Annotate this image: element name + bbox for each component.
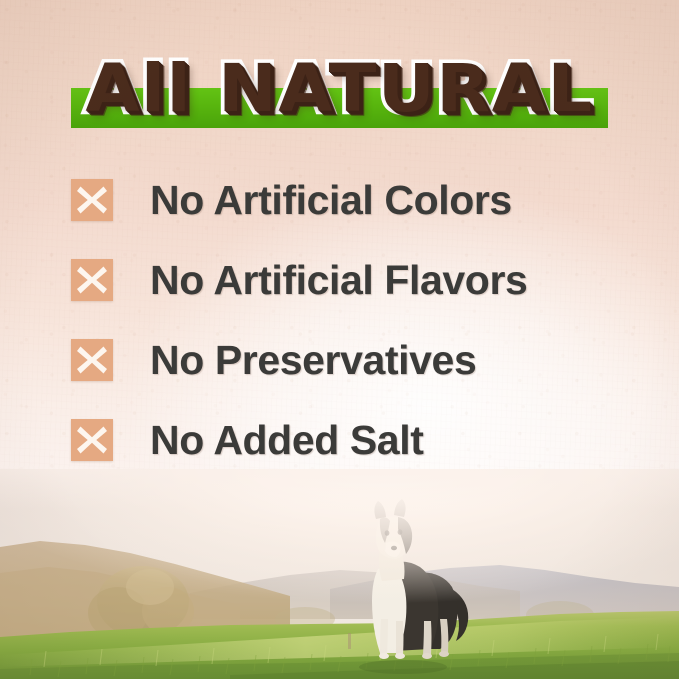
- list-item-label: No Added Salt: [150, 420, 423, 461]
- claims-list: No Artificial Colors No Artificial Flavo…: [0, 160, 679, 480]
- x-mark-icon: [71, 419, 113, 461]
- list-item-label: No Artificial Colors: [150, 180, 512, 221]
- x-mark-icon: [71, 259, 113, 301]
- list-item: No Artificial Colors: [0, 160, 679, 240]
- list-item: No Preservatives: [0, 320, 679, 400]
- list-item-label: No Artificial Flavors: [150, 260, 527, 301]
- landscape-photo: [0, 469, 679, 679]
- x-mark-icon: [71, 179, 113, 221]
- x-mark-icon: [71, 339, 113, 381]
- page-title: All NATURAL: [0, 46, 679, 132]
- headline-banner: All NATURAL: [0, 46, 679, 142]
- list-item: No Added Salt: [0, 400, 679, 480]
- product-claims-poster: All NATURAL No Artificial Colors No Arti…: [0, 0, 679, 679]
- list-item: No Artificial Flavors: [0, 240, 679, 320]
- list-item-label: No Preservatives: [150, 340, 476, 381]
